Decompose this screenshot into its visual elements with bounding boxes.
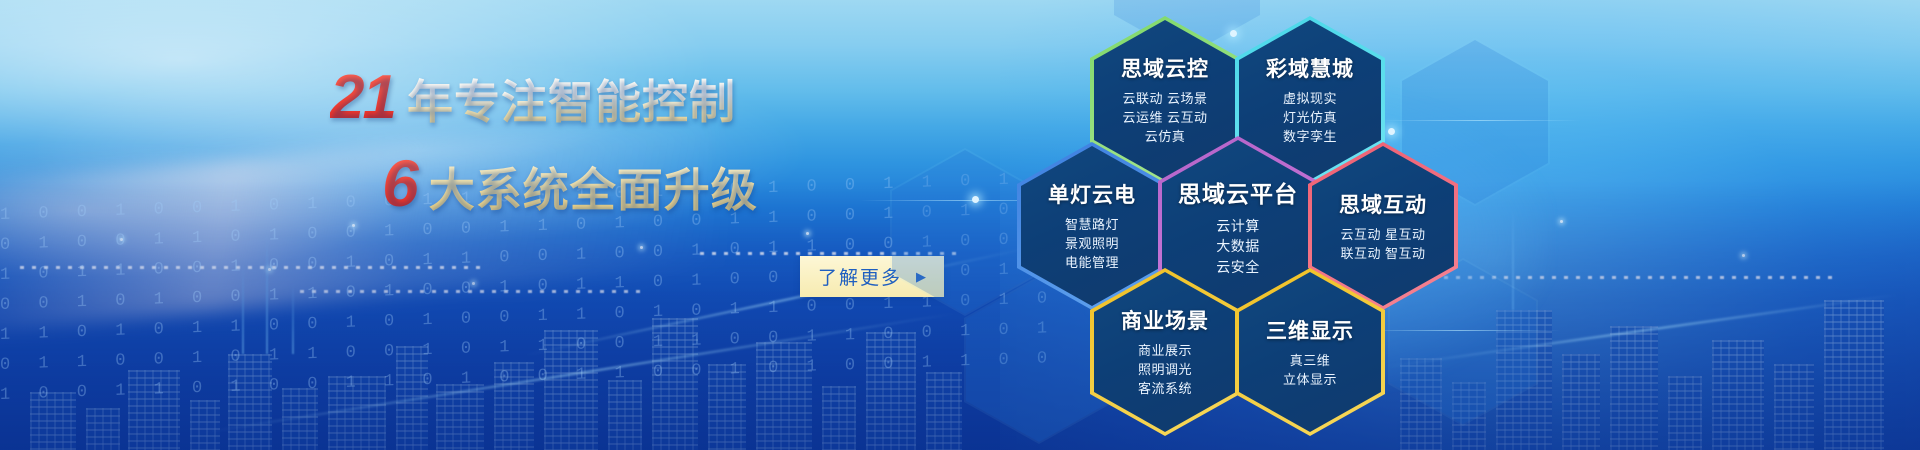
learn-more-button[interactable]: 了解更多 ▶ — [800, 256, 944, 297]
hex-line: 电能管理 — [1048, 254, 1136, 273]
hex-title: 三维显示 — [1266, 315, 1354, 345]
hex-line: 大数据 — [1178, 236, 1298, 256]
hex-title: 单灯云电 — [1048, 179, 1136, 209]
headline-line-2: 6 大系统全面升级 — [382, 145, 800, 221]
hex-line: 云仿真 — [1121, 128, 1209, 147]
hexagon-cluster: 思域云控 云联动 云场景 云运维 云互动 云仿真 彩域慧城 虚拟现实 灯光仿真 … — [980, 0, 1540, 450]
hex-line: 虚拟现实 — [1266, 90, 1354, 109]
hex-title: 彩域慧城 — [1266, 53, 1354, 83]
hex-title: 思域云控 — [1121, 53, 1209, 83]
hex-line: 照明调光 — [1121, 361, 1209, 380]
hex-line: 立体显示 — [1266, 371, 1354, 390]
hex-title: 商业场景 — [1121, 305, 1209, 335]
hex-line: 真三维 — [1266, 352, 1354, 371]
learn-more-label: 了解更多 — [818, 263, 902, 290]
headline-number-6: 6 — [382, 145, 429, 221]
hex-line: 数字孪生 — [1266, 128, 1354, 147]
headline-block: 21 年专注智能控制 6 大系统全面升级 — [330, 62, 800, 221]
hex-line: 云安全 — [1178, 257, 1298, 277]
headline-number-21: 21 — [330, 62, 407, 133]
hex-title: 思域云平台 — [1178, 175, 1298, 209]
headline-text-2: 大系统全面升级 — [429, 154, 758, 220]
sky-background — [0, 0, 1920, 450]
hex-line: 客流系统 — [1121, 380, 1209, 399]
hex-line: 商业展示 — [1121, 342, 1209, 361]
hex-line: 灯光仿真 — [1266, 109, 1354, 128]
hex-line: 云联动 云场景 — [1121, 90, 1209, 109]
play-arrow-icon: ▶ — [916, 270, 928, 283]
headline-line-1: 21 年专注智能控制 — [330, 62, 800, 133]
hex-line: 景观照明 — [1048, 235, 1136, 254]
hex-line: 联互动 智互动 — [1339, 245, 1427, 264]
hex-line: 云运维 云互动 — [1121, 109, 1209, 128]
headline-text-1: 年专注智能控制 — [407, 66, 736, 132]
hex-line: 云计算 — [1178, 216, 1298, 236]
hex-title: 思域互动 — [1339, 189, 1427, 219]
promotional-banner: 1 0 0 1 0 0 1 0 1 0 0 1 1 0 0 1 0 1 0 0 … — [0, 0, 1920, 450]
hex-line: 云互动 星互动 — [1339, 226, 1427, 245]
hex-line: 智慧路灯 — [1048, 216, 1136, 235]
